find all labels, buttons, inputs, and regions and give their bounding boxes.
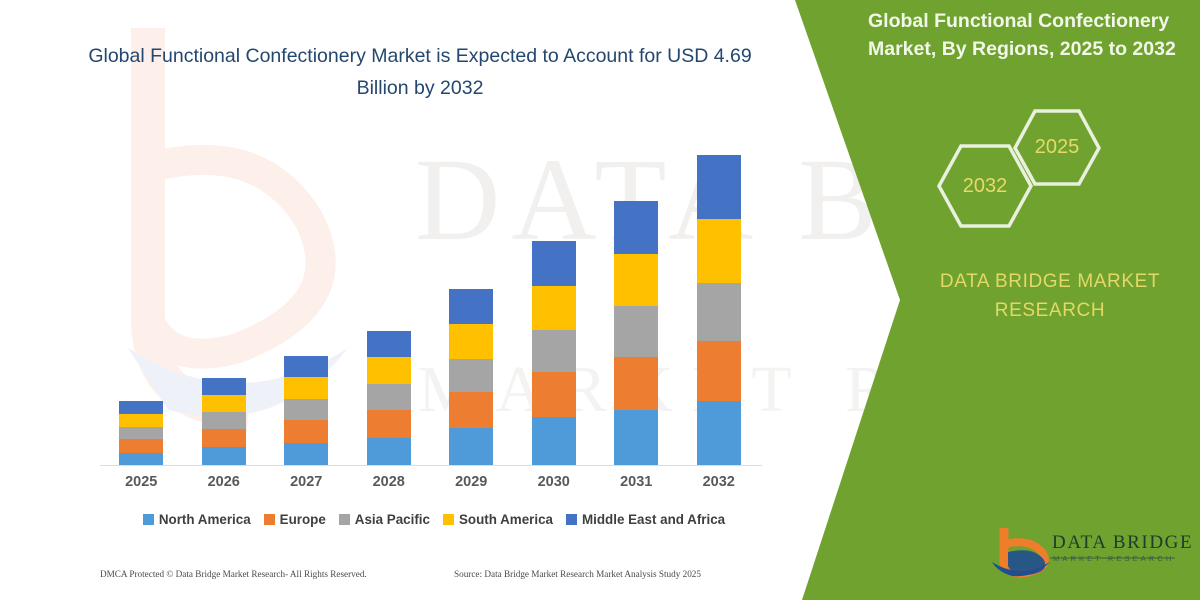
bar-segment-north-america[interactable] [532,417,576,466]
bar-segment-south-america[interactable] [119,414,163,427]
logo-tagline: MARKET RESEARCH [1053,554,1174,563]
bar-segment-middle-east-and-africa[interactable] [202,378,246,395]
legend-swatch-icon [264,514,275,525]
bar-segment-asia-pacific[interactable] [449,359,493,392]
hexagon-2025-label: 2025 [1035,136,1080,159]
legend-item-north-america[interactable]: North America [143,512,251,527]
bar-segment-south-america[interactable] [367,357,411,384]
bar-stack[interactable] [532,241,576,466]
hexagon-2025: 2025 [1012,108,1102,187]
bar-segment-middle-east-and-africa[interactable] [614,201,658,254]
bar-segment-south-america[interactable] [284,377,328,399]
bar-segment-middle-east-and-africa[interactable] [284,356,328,377]
legend-swatch-icon [339,514,350,525]
legend-label: Middle East and Africa [582,512,725,527]
chart-title: Global Functional Confectionery Market i… [60,41,780,104]
bar-segment-north-america[interactable] [697,401,741,466]
infographic-canvas: DATA BRIDGE MARKET RESEARCH Global Funct… [0,0,1200,600]
bar-segment-europe[interactable] [119,439,163,453]
bar-segment-europe[interactable] [697,341,741,401]
x-axis-label-2031: 2031 [601,474,671,490]
legend-label: South America [459,512,553,527]
bar-stack[interactable] [697,155,741,466]
legend-item-south-america[interactable]: South America [443,512,553,527]
x-axis-line [100,465,762,466]
bar-segment-asia-pacific[interactable] [697,283,741,341]
bar-segment-asia-pacific[interactable] [614,306,658,357]
bar-segment-north-america[interactable] [614,410,658,466]
bar-stack[interactable] [449,289,493,466]
hexagon-2032-label: 2032 [963,175,1008,198]
bar-segment-asia-pacific[interactable] [367,384,411,410]
bar-segment-north-america[interactable] [367,438,411,466]
bar-segment-europe[interactable] [449,392,493,428]
brand-name: DATA BRIDGE MARKET RESEARCH [900,268,1200,325]
panel-title: Global Functional Confectionery Market, … [868,8,1190,63]
bar-segment-north-america[interactable] [202,447,246,466]
legend-swatch-icon [143,514,154,525]
bar-segment-europe[interactable] [202,429,246,447]
bar-segment-south-america[interactable] [449,324,493,359]
bar-segment-middle-east-and-africa[interactable] [119,401,163,414]
footer-copyright: DMCA Protected © Data Bridge Market Rese… [100,569,367,579]
bar-segment-south-america[interactable] [614,254,658,306]
bar-segment-south-america[interactable] [202,395,246,412]
bar-segment-south-america[interactable] [697,219,741,283]
x-axis-label-2026: 2026 [189,474,259,490]
x-axis-labels: 20252026202720282029203020312032 [100,474,762,498]
legend-label: Europe [280,512,326,527]
bar-stack[interactable] [284,356,328,466]
bar-segment-middle-east-and-africa[interactable] [697,155,741,219]
x-axis-label-2025: 2025 [106,474,176,490]
legend-label: Asia Pacific [355,512,430,527]
bar-segment-asia-pacific[interactable] [202,412,246,429]
legend-item-middle-east-and-africa[interactable]: Middle East and Africa [566,512,725,527]
bar-segment-middle-east-and-africa[interactable] [367,331,411,357]
bar-segment-europe[interactable] [532,372,576,417]
bar-segment-asia-pacific[interactable] [532,330,576,372]
x-axis-label-2032: 2032 [684,474,754,490]
bar-segment-asia-pacific[interactable] [119,427,163,439]
bar-segment-europe[interactable] [367,410,411,438]
x-axis-label-2030: 2030 [519,474,589,490]
footer-source: Source: Data Bridge Market Research Mark… [454,569,701,579]
bar-segment-middle-east-and-africa[interactable] [532,241,576,286]
bar-segment-europe[interactable] [614,357,658,410]
bar-segment-europe[interactable] [284,420,328,443]
chart-plot-area [100,120,760,466]
x-axis-label-2028: 2028 [354,474,424,490]
bar-stack[interactable] [614,201,658,466]
chart-legend: North AmericaEuropeAsia PacificSouth Ame… [104,512,764,527]
legend-swatch-icon [566,514,577,525]
bar-stack[interactable] [202,378,246,466]
brand-name-line2: RESEARCH [900,297,1200,326]
bar-segment-asia-pacific[interactable] [284,399,328,420]
brand-name-line1: DATA BRIDGE MARKET [900,268,1200,297]
x-axis-label-2027: 2027 [271,474,341,490]
bar-segment-south-america[interactable] [532,286,576,330]
bar-stack[interactable] [119,401,163,466]
bar-stack[interactable] [367,331,411,466]
x-axis-label-2029: 2029 [436,474,506,490]
legend-swatch-icon [443,514,454,525]
legend-item-asia-pacific[interactable]: Asia Pacific [339,512,430,527]
bar-segment-north-america[interactable] [284,443,328,466]
bar-segment-north-america[interactable] [449,428,493,466]
legend-item-europe[interactable]: Europe [264,512,326,527]
legend-label: North America [159,512,251,527]
bar-segment-middle-east-and-africa[interactable] [449,289,493,324]
logo-wordmark: DATA BRIDGE [1052,532,1193,554]
